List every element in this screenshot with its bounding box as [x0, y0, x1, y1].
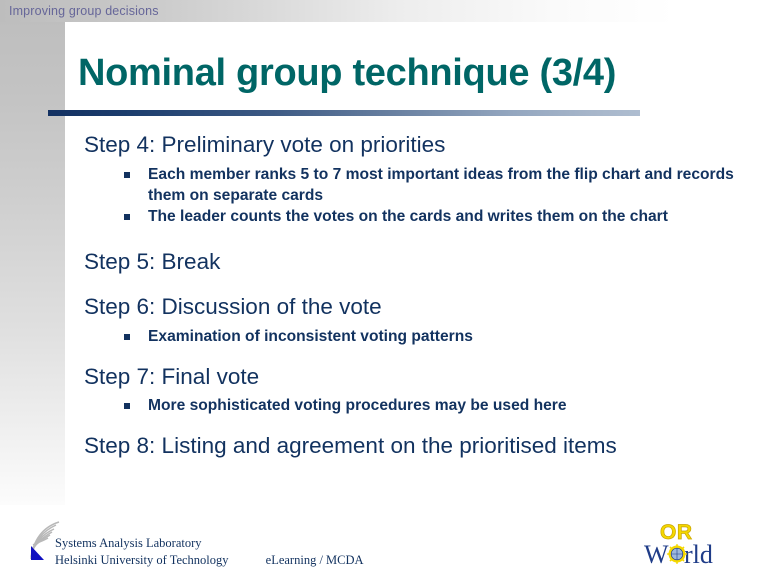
slide-body: Step 4: Preliminary vote on priorities E… [0, 132, 768, 460]
list-item: Examination of inconsistent voting patte… [0, 326, 768, 347]
title-underline-rule [48, 110, 640, 116]
slide-footer: Systems Analysis Laboratory Helsinki Uni… [0, 510, 768, 576]
footer-institution: Helsinki University of Technology [55, 553, 229, 567]
footer-course: eLearning / MCDA [266, 552, 364, 569]
step-heading: Step 7: Final vote [0, 364, 768, 391]
list-item: More sophisticated voting procedures may… [0, 395, 768, 416]
presentation-section-label: Improving group decisions [9, 4, 159, 18]
list-item: The leader counts the votes on the cards… [0, 206, 768, 227]
list-item-label: Each member ranks 5 to 7 most important … [148, 166, 734, 204]
step-bullet-list: Examination of inconsistent voting patte… [0, 326, 768, 347]
globe-icon [667, 544, 687, 564]
or-world-logo-world-text: W [644, 540, 669, 569]
step-heading: Step 5: Break [0, 249, 768, 276]
slide-title: Nominal group technique (3/4) [78, 52, 616, 95]
square-bullet-icon [124, 334, 130, 340]
list-item-label: More sophisticated voting procedures may… [148, 397, 567, 414]
step-heading: Step 6: Discussion of the vote [0, 294, 768, 321]
square-bullet-icon [124, 403, 130, 409]
list-item-label: Examination of inconsistent voting patte… [148, 328, 473, 345]
step-bullet-list: Each member ranks 5 to 7 most important … [0, 164, 768, 227]
step-heading: Step 8: Listing and agreement on the pri… [0, 433, 768, 460]
square-bullet-icon [124, 214, 130, 220]
or-world-logo-world-text-rest: rld [684, 540, 713, 569]
list-item-label: The leader counts the votes on the cards… [148, 208, 668, 225]
slide-canvas: Improving group decisions Nominal group … [0, 0, 768, 576]
footer-credits: Systems Analysis Laboratory Helsinki Uni… [55, 535, 364, 570]
step-heading: Step 4: Preliminary vote on priorities [0, 132, 768, 159]
list-item: Each member ranks 5 to 7 most important … [0, 164, 768, 206]
or-world-logo: OR W rld [640, 516, 756, 570]
square-bullet-icon [124, 172, 130, 178]
footer-organisation: Systems Analysis Laboratory [55, 536, 202, 550]
slide-header-strip: Improving group decisions [0, 0, 768, 22]
step-bullet-list: More sophisticated voting procedures may… [0, 395, 768, 416]
